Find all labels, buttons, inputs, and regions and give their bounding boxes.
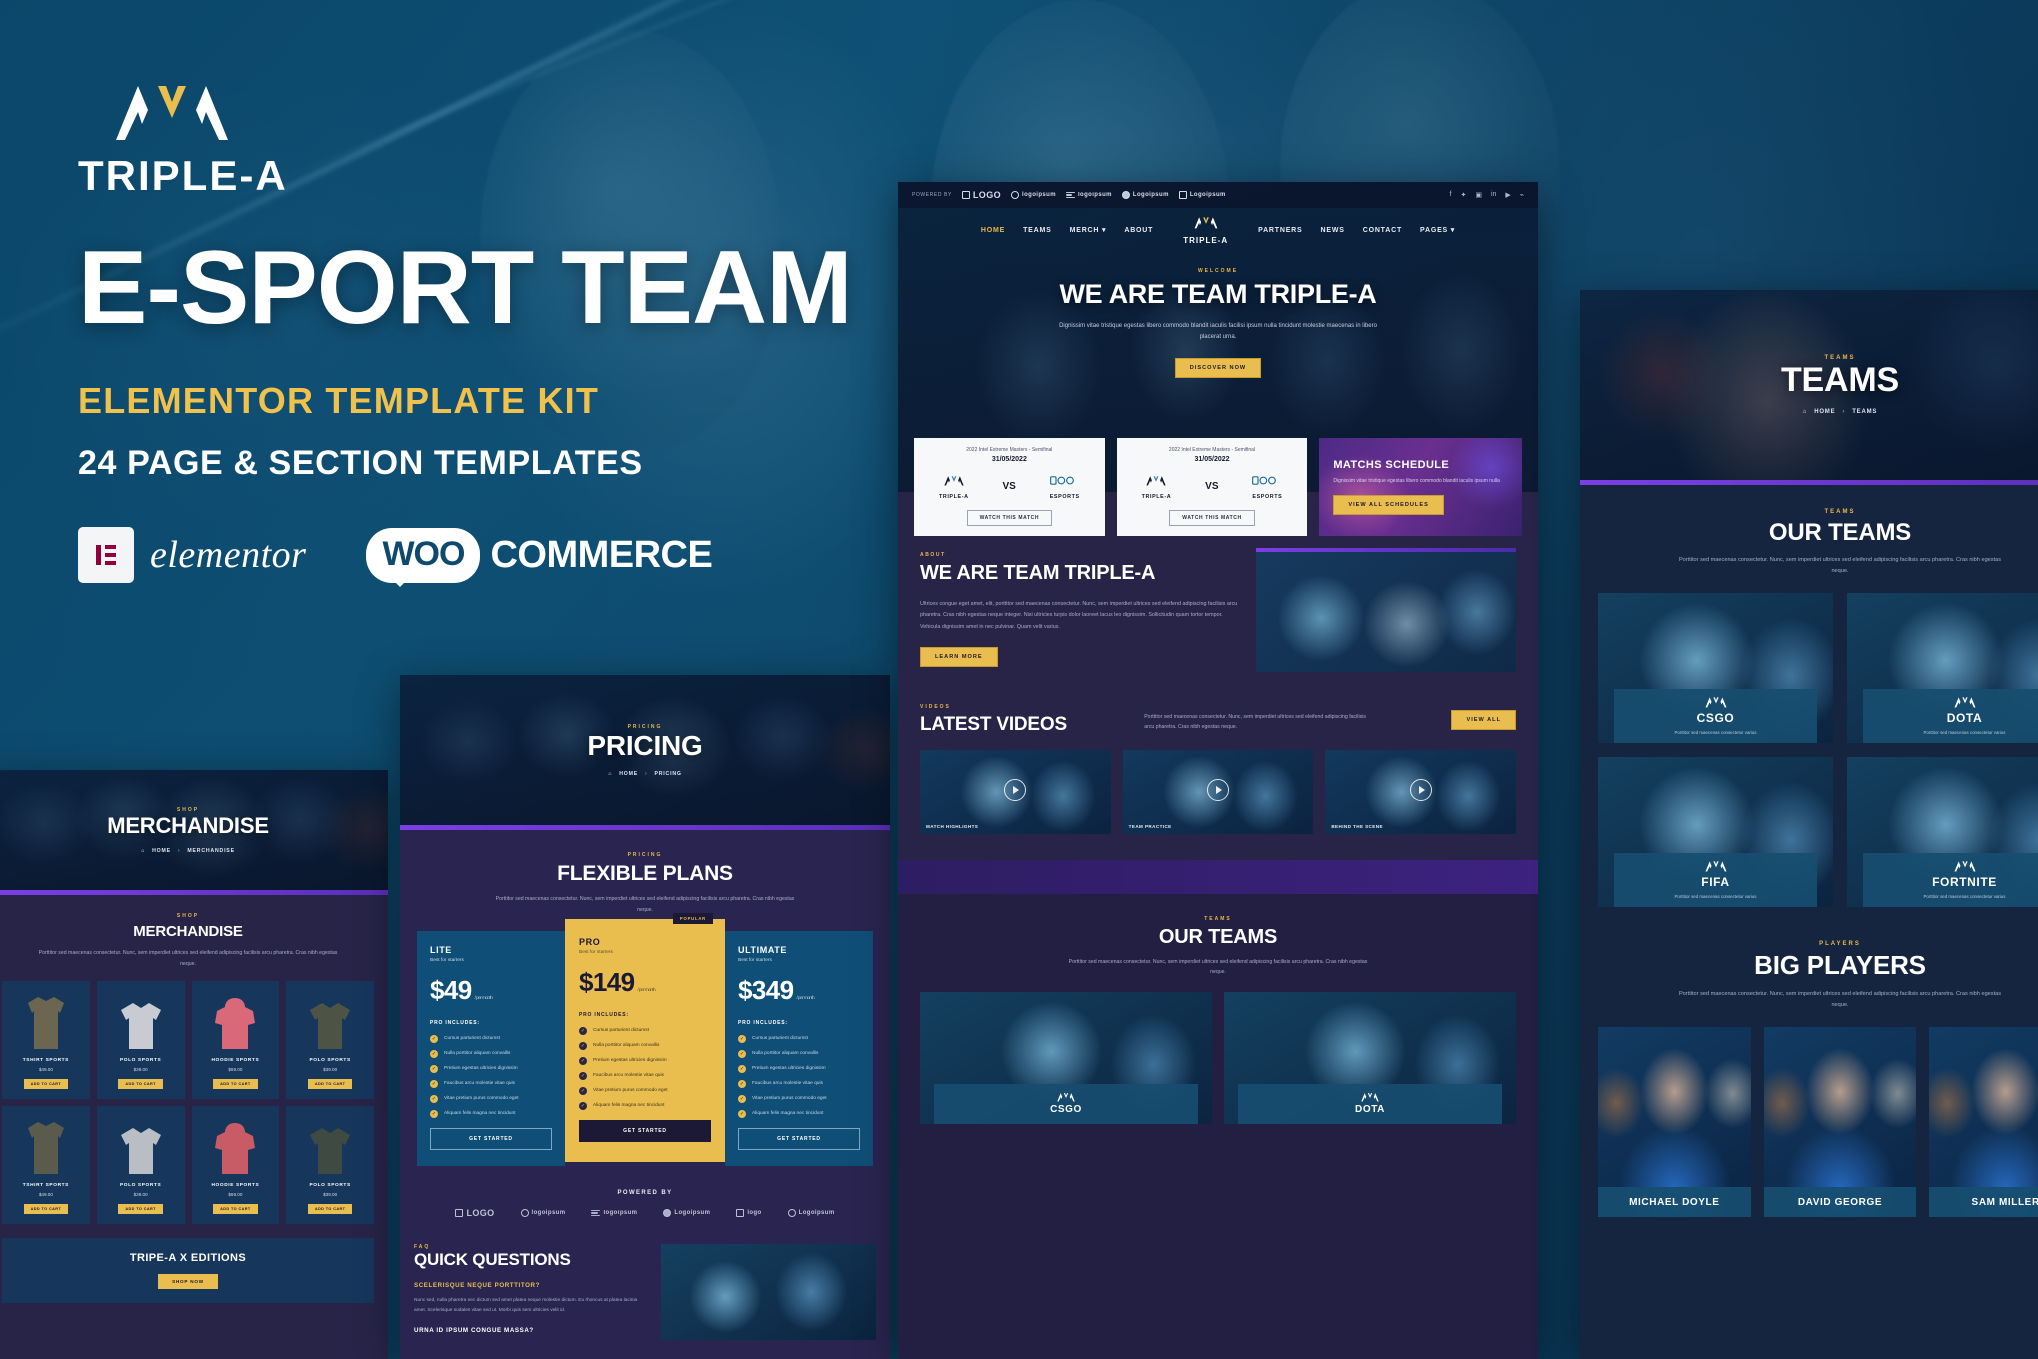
teams-page-hero: TEAMS TEAMS ⌂ HOME › TEAMS [1580, 290, 2038, 480]
plan-price: $349/ per month [738, 975, 860, 1006]
hero-subtitle: ELEMENTOR TEMPLATE KIT [78, 380, 898, 422]
pricing-card-ultimate[interactable]: ULTIMATE Best for starters $349/ per mon… [725, 931, 873, 1166]
hero-subtitle-secondary: 24 PAGE & SECTION TEMPLATES [78, 444, 898, 483]
nav-brand[interactable]: TRIPLE-A [1183, 216, 1228, 245]
triple-a-logo-icon [1360, 1092, 1380, 1102]
plan-name: PRO [579, 937, 711, 947]
play-icon[interactable] [1004, 779, 1026, 801]
players-desc: Porttitor sed maecenas consectetur. Nunc… [1670, 989, 2010, 1011]
check-icon: ✓ [738, 1095, 746, 1103]
product-price: $49.00 [8, 1192, 84, 1197]
merch-page-hero: SHOP MERCHANDISE ⌂ HOME › MERCHANDISE [0, 770, 388, 890]
product-card[interactable]: TSHIRT SPORTS $49.00 ADD TO CART [2, 1106, 90, 1224]
plan-tagline: Best for starters [430, 958, 552, 963]
check-icon: ✓ [579, 1072, 587, 1080]
check-icon: ✓ [430, 1035, 438, 1043]
team-desc: Porttitor sed maecenas consectetur variu… [1924, 729, 2006, 736]
woo-bubble-label: WOO [366, 528, 480, 583]
match-date: 31/05/2022 [1125, 456, 1300, 463]
feature-list: ✓Cursus parturient dictumst ✓Nulla portt… [430, 1035, 552, 1118]
social-links[interactable]: f ✦ ▣ in ▶ ⌁ [1449, 191, 1524, 199]
twitch-icon[interactable]: ⌁ [1520, 191, 1524, 199]
plan-period: / per month [637, 988, 655, 993]
edition-title: TRIPE-A X EDITIONS [16, 1252, 360, 1264]
add-to-cart-button[interactable]: ADD TO CART [308, 1204, 353, 1214]
list-item: ✓Aliquam felis magna nec tincidunt [738, 1110, 860, 1118]
view-all-schedules-button[interactable]: VIEW ALL SCHEDULES [1333, 495, 1443, 515]
triple-a-logo-icon [1145, 475, 1167, 486]
match-card[interactable]: 2022 Intel Extreme Masters - Semifinal 3… [1117, 438, 1308, 536]
check-icon: ✓ [430, 1080, 438, 1088]
list-item: ✓Nulla porttitor aliquam convallis [430, 1050, 552, 1058]
product-card[interactable]: POLO SPORTS $39.00 ADD TO CART [97, 981, 185, 1099]
product-name: HOODIE SPORTS [198, 1183, 274, 1188]
video-card[interactable]: BEHIND THE SCENE [1325, 750, 1516, 834]
about-title: WE ARE TEAM TRIPLE-A [920, 562, 1240, 585]
nav-item-home[interactable]: HOME [981, 227, 1005, 234]
plan-price: $49/ per month [430, 975, 552, 1006]
home-page-mockup[interactable]: POWERED BY LOGO logoipsum logoipsum Logo… [898, 182, 1538, 1359]
get-started-button[interactable]: GET STARTED [430, 1128, 552, 1150]
list-item: ✓Pretium egestas ultricies dignissim [579, 1057, 711, 1065]
team-name: FIFA [1701, 875, 1729, 889]
breadcrumb-home[interactable]: HOME [619, 771, 638, 777]
triple-a-logo-icon [1953, 696, 1977, 708]
product-grid: TSHIRT SPORTS $49.00 ADD TO CART POLO SP… [2, 981, 374, 1224]
product-price: $49.00 [8, 1067, 84, 1072]
check-icon: ✓ [579, 1087, 587, 1095]
partner-logo: LOGO [455, 1208, 494, 1218]
team-name: DOTA [1355, 1104, 1385, 1115]
includes-label: PRO INCLUDES: [430, 1020, 552, 1026]
check-icon: ✓ [430, 1095, 438, 1103]
breadcrumb-current: MERCHANDISE [187, 848, 234, 854]
home-icon[interactable]: ⌂ [1803, 409, 1807, 415]
team-card[interactable]: CSGO Porttitor sed maecenas consectetur … [1598, 593, 1833, 743]
players-title: BIG PLAYERS [1598, 951, 2038, 981]
pricing-table: LITE Best for starters $49/ per month PR… [414, 931, 876, 1166]
home-icon[interactable]: ⌂ [608, 771, 612, 777]
add-to-cart-button[interactable]: ADD TO CART [24, 1204, 69, 1214]
vs-label: VS [1002, 481, 1015, 492]
videos-section: VIDEOS LATEST VIDEOS Porttitor sed maece… [898, 694, 1538, 860]
triple-a-logo-icon [1953, 860, 1977, 872]
product-image [8, 1114, 84, 1176]
plans-title: FLEXIBLE PLANS [414, 862, 876, 886]
product-image [8, 989, 84, 1051]
chevron-down-icon: ▾ [1451, 227, 1455, 234]
add-to-cart-button[interactable]: ADD TO CART [118, 1079, 163, 1089]
pricing-page-hero: PRICING PRICING ⌂ HOME › PRICING [400, 675, 890, 825]
nav-item-pages[interactable]: PAGES ▾ [1420, 226, 1455, 234]
match-cards-row: 2022 Intel Extreme Masters - Semifinal 3… [914, 438, 1522, 536]
team-b: ESPORTS [1252, 473, 1282, 500]
powered-by-label: POWERED BY [414, 1190, 876, 1196]
team-desc: Porttitor sed maecenas consectetur variu… [1675, 893, 1757, 900]
check-icon: ✓ [430, 1050, 438, 1058]
partner-logo: logo [736, 1209, 761, 1217]
video-card[interactable]: TEAM PRACTICE [1123, 750, 1314, 834]
nav-brand-label: TRIPLE-A [1183, 236, 1228, 245]
faq-question[interactable]: URNA ID IPSUM CONGUE MASSA? [414, 1327, 645, 1334]
list-item: ✓Faucibus arcu molestie vitae quis [738, 1080, 860, 1088]
schedule-promo-card[interactable]: MATCHS SCHEDULE Dignissim vitae tristiqu… [1319, 438, 1522, 536]
match-teams: TRIPLE-A VS ESPORTS [922, 473, 1097, 500]
team-name: CSGO [1050, 1104, 1082, 1115]
team-name: TRIPLE-A [1142, 494, 1172, 500]
add-to-cart-button[interactable]: ADD TO CART [213, 1079, 258, 1089]
hero-description: Dignissim vitae tristique egestas libero… [1053, 321, 1383, 344]
players-kicker: PLAYERS [1598, 941, 2038, 947]
our-teams-section: TEAMS OUR TEAMS Porttitor sed maecenas c… [1580, 485, 2038, 915]
list-item: ✓Aliquam felis magna nec tincidunt [579, 1102, 711, 1110]
list-item: ✓Vitae pretium purus commodo eget [579, 1087, 711, 1095]
list-item: ✓Faucibus arcu molestie vitae quis [430, 1080, 552, 1088]
team-name: CSGO [1697, 711, 1735, 725]
list-item: ✓Cursus parturient dictumst [738, 1035, 860, 1043]
teams-title: OUR TEAMS [920, 926, 1516, 949]
team-name: ESPORTS [1050, 494, 1080, 500]
partner-logo: logoipsum [521, 1209, 566, 1217]
breadcrumb-current: PRICING [655, 771, 682, 777]
view-all-videos-button[interactable]: VIEW ALL [1451, 710, 1516, 730]
pricing-card-lite[interactable]: LITE Best for starters $49/ per month PR… [417, 931, 565, 1166]
chevron-right-icon: › [1842, 409, 1845, 415]
check-icon: ✓ [579, 1102, 587, 1110]
video-caption: MATCH HIGHLIGHTS [926, 824, 978, 829]
plan-tagline: Best for starters [738, 958, 860, 963]
nav-right[interactable]: PARTNERS NEWS CONTACT PAGES ▾ [1258, 226, 1455, 234]
powered-by-label: POWERED BY [912, 192, 952, 198]
schedule-desc: Dignissim vitae tristique egestas libero… [1333, 477, 1508, 486]
check-icon: ✓ [579, 1027, 587, 1035]
about-image [1256, 552, 1516, 672]
triple-a-logo-icon [1704, 860, 1728, 872]
team-card[interactable]: CSGO [920, 992, 1212, 1124]
nav-item-merch[interactable]: MERCH ▾ [1070, 226, 1107, 234]
elementor-logo: elementor [78, 527, 306, 583]
product-image [292, 989, 368, 1051]
product-price: $69.00 [198, 1192, 274, 1197]
triple-a-logo-icon [1056, 1092, 1076, 1102]
partner-logo: Logoipsum [663, 1209, 710, 1217]
pricing-card-pro[interactable]: POPULAR PRO Best for starters $149/ per … [565, 919, 725, 1162]
hero-kicker: WELCOME [898, 268, 1538, 274]
partner-logo-row: LOGO logoipsum logoipsum Logoipsum logo … [414, 1208, 876, 1218]
includes-label: PRO INCLUDES: [579, 1012, 711, 1018]
triple-a-logo-icon [1193, 216, 1219, 229]
plans-head: PRICING FLEXIBLE PLANS Porttitor sed mae… [414, 852, 876, 915]
plan-tagline: Best for starters [579, 950, 711, 955]
team-card[interactable]: FIFA Porttitor sed maecenas consectetur … [1598, 757, 1833, 907]
faq-section: FAQ QUICK QUESTIONS SCELERISQUE NEQUE PO… [414, 1244, 876, 1340]
product-price: $39.00 [103, 1067, 179, 1072]
faq-image [661, 1244, 876, 1340]
partner-logo: logoipsum [591, 1210, 637, 1217]
faq-answer: Nunc sed, nulla pharetra nec dictum sed … [414, 1296, 645, 1315]
product-card[interactable]: POLO SPORTS $39.00 ADD TO CART [286, 1106, 374, 1224]
team-b: ESPORTS [1050, 473, 1080, 500]
breadcrumb[interactable]: ⌂ HOME › PRICING [608, 771, 681, 777]
partner-logo: Logoipsum [788, 1209, 835, 1217]
our-teams-title: OUR TEAMS [1598, 519, 2038, 547]
team-desc: Porttitor sed maecenas consectetur variu… [1675, 729, 1757, 736]
partner-logo: LOGO [962, 190, 1001, 200]
list-item: ✓Pretium egestas ultricies dignissim [738, 1065, 860, 1073]
product-card[interactable]: HOODIE SPORTS $69.00 ADD TO CART [192, 1106, 280, 1224]
match-card[interactable]: 2022 Intel Extreme Masters - Semifinal 3… [914, 438, 1105, 536]
popular-badge: POPULAR [673, 913, 713, 924]
product-name: POLO SPORTS [103, 1183, 179, 1188]
add-to-cart-button[interactable]: ADD TO CART [308, 1079, 353, 1089]
play-icon[interactable] [1410, 779, 1432, 801]
linkedin-icon[interactable]: in [1491, 191, 1496, 199]
shop-now-button[interactable]: SHOP NOW [158, 1274, 218, 1289]
nav-item-contact[interactable]: CONTACT [1363, 227, 1402, 234]
purple-band [898, 860, 1538, 894]
home-hero: POWERED BY LOGO logoipsum logoipsum Logo… [898, 182, 1538, 492]
player-name: SAM MILLER [1972, 1197, 2038, 1208]
list-item: ✓Cursus parturient dictumst [430, 1035, 552, 1043]
plan-name: LITE [430, 945, 552, 955]
plan-price: $149/ per month [579, 967, 711, 998]
discover-now-button[interactable]: DISCOVER NOW [1175, 358, 1261, 378]
youtube-icon[interactable]: ▶ [1505, 191, 1510, 199]
plan-name: ULTIMATE [738, 945, 860, 955]
add-to-cart-button[interactable]: ADD TO CART [118, 1204, 163, 1214]
nav-left[interactable]: HOME TEAMS MERCH ▾ ABOUT [981, 226, 1153, 234]
list-item: ✓Aliquam felis magna nec tincidunt [430, 1110, 552, 1118]
nav-item-partners[interactable]: PARTNERS [1258, 227, 1302, 234]
about-desc: Ultrices congue eget amet, elit, porttit… [920, 599, 1240, 633]
merch-section-desc: Porttitor sed maecenas consectetur. Nunc… [38, 948, 338, 969]
match-date: 31/05/2022 [922, 456, 1097, 463]
chevron-down-icon: ▾ [1102, 227, 1106, 234]
triple-a-logo-icon [1704, 696, 1728, 708]
schedule-title: MATCHS SCHEDULE [1333, 459, 1508, 471]
check-icon: ✓ [430, 1065, 438, 1073]
video-caption: BEHIND THE SCENE [1331, 824, 1383, 829]
breadcrumb-home[interactable]: HOME [152, 848, 171, 854]
partner-logo: Logoipsum [1122, 191, 1169, 199]
list-item: ✓Nulla porttitor aliquam convallis [738, 1050, 860, 1058]
product-card[interactable]: POLO SPORTS $39.00 ADD TO CART [286, 981, 374, 1099]
players-section: PLAYERS BIG PLAYERS Porttitor sed maecen… [1580, 915, 2038, 1217]
page-title: E-SPORT TEAM [78, 236, 898, 340]
platform-logos: elementor WOO COMMERCE [78, 527, 898, 583]
plans-kicker: PRICING [414, 852, 876, 858]
log-esports-logo-icon [1050, 475, 1080, 486]
facebook-icon[interactable]: f [1449, 191, 1451, 199]
main-navigation[interactable]: HOME TEAMS MERCH ▾ ABOUT TRIPLE-A PARTNE… [898, 208, 1538, 252]
merchandise-page-mockup[interactable]: SHOP MERCHANDISE ⌂ HOME › MERCHANDISE SH… [0, 770, 388, 1359]
feature-list: ✓Cursus parturient dictumst ✓Nulla portt… [738, 1035, 860, 1118]
partner-logo: Logoipsum [1179, 191, 1226, 199]
breadcrumb[interactable]: ⌂ HOME › TEAMS [1803, 409, 1877, 415]
plans-desc: Porttitor sed maecenas consectetur. Nunc… [495, 894, 795, 915]
check-icon: ✓ [738, 1110, 746, 1118]
breadcrumb-home[interactable]: HOME [1814, 409, 1835, 415]
player-card[interactable]: DAVID GEORGE [1764, 1027, 1917, 1217]
product-image [103, 989, 179, 1051]
powered-by-group: POWERED BY LOGO logoipsum logoipsum Logo… [912, 190, 1226, 200]
feature-list: ✓Cursus parturient dictumst ✓Nulla portt… [579, 1027, 711, 1110]
check-icon: ✓ [579, 1042, 587, 1050]
product-image [198, 989, 274, 1051]
list-item: ✓Vitae pretium purus commodo eget [738, 1095, 860, 1103]
video-card[interactable]: MATCH HIGHLIGHTS [920, 750, 1111, 834]
team-name: ESPORTS [1252, 494, 1282, 500]
faq-question[interactable]: SCELERISQUE NEQUE PORTTITOR? [414, 1282, 645, 1289]
product-name: HOODIE SPORTS [198, 1058, 274, 1063]
merch-section-title: MERCHANDISE [2, 923, 374, 940]
chevron-right-icon: › [645, 771, 648, 777]
triple-a-logo-icon [108, 80, 236, 144]
video-caption: TEAM PRACTICE [1129, 824, 1172, 829]
brand-wordmark: TRIPLE-A [78, 152, 898, 200]
edition-banner[interactable]: TRIPE-A X EDITIONS SHOP NOW [2, 1238, 374, 1303]
product-price: $39.00 [292, 1192, 368, 1197]
log-esports-logo-icon [1252, 475, 1282, 486]
team-name: FORTNITE [1932, 875, 1997, 889]
pricing-page-title: PRICING [587, 730, 702, 762]
list-item: ✓Faucibus arcu molestie vitae quis [579, 1072, 711, 1080]
breadcrumb[interactable]: ⌂ HOME › MERCHANDISE [141, 848, 235, 854]
team-desc: Porttitor sed maecenas consectetur variu… [1924, 893, 2006, 900]
get-started-button[interactable]: GET STARTED [579, 1120, 711, 1142]
team-card[interactable]: FORTNITE Porttitor sed maecenas consecte… [1847, 757, 2038, 907]
player-name: DAVID GEORGE [1798, 1197, 1882, 1208]
triple-a-logo-icon [943, 475, 965, 486]
add-to-cart-button[interactable]: ADD TO CART [24, 1079, 69, 1089]
list-item: ✓Cursus parturient dictumst [579, 1027, 711, 1035]
watch-match-button[interactable]: WATCH THIS MATCH [1169, 510, 1254, 526]
videos-title: LATEST VIDEOS [920, 714, 1067, 736]
team-card[interactable]: DOTA [1224, 992, 1516, 1124]
team-a: TRIPLE-A [939, 473, 969, 500]
product-price: $69.00 [198, 1067, 274, 1072]
utility-topbar: POWERED BY LOGO logoipsum logoipsum Logo… [898, 182, 1538, 208]
player-grid: MICHAEL DOYLE DAVID GEORGE SAM MILLER [1598, 1027, 2038, 1217]
product-image [198, 1114, 274, 1176]
check-icon: ✓ [738, 1050, 746, 1058]
hero-heading: WE ARE TEAM TRIPLE-A [898, 279, 1538, 310]
match-tournament: 2022 Intel Extreme Masters - Semifinal [1125, 447, 1300, 453]
hero-copy: TRIPLE-A E-SPORT TEAM ELEMENTOR TEMPLATE… [78, 80, 898, 583]
check-icon: ✓ [579, 1057, 587, 1065]
merch-section-head: SHOP MERCHANDISE Porttitor sed maecenas … [2, 913, 374, 969]
product-price: $39.00 [103, 1192, 179, 1197]
plan-period: / per month [796, 996, 814, 1001]
about-kicker: ABOUT [920, 552, 1240, 558]
team-a: TRIPLE-A [1142, 473, 1172, 500]
nav-item-about[interactable]: ABOUT [1124, 227, 1153, 234]
team-grid: CSGO Porttitor sed maecenas consectetur … [1598, 593, 2038, 907]
teams-desc: Porttitor sed maecenas consectetur. Nunc… [1068, 957, 1368, 978]
product-price: $39.00 [292, 1067, 368, 1072]
our-teams-kicker: TEAMS [1598, 509, 2038, 515]
player-card[interactable]: MICHAEL DOYLE [1598, 1027, 1751, 1217]
instagram-icon[interactable]: ▣ [1475, 191, 1482, 199]
match-tournament: 2022 Intel Extreme Masters - Semifinal [922, 447, 1097, 453]
vs-label: VS [1205, 481, 1218, 492]
product-name: POLO SPORTS [292, 1183, 368, 1188]
add-to-cart-button[interactable]: ADD TO CART [213, 1204, 258, 1214]
teams-section: TEAMS OUR TEAMS Porttitor sed maecenas c… [898, 894, 1538, 1150]
includes-label: PRO INCLUDES: [738, 1020, 860, 1026]
get-started-button[interactable]: GET STARTED [738, 1128, 860, 1150]
teams-page-mockup[interactable]: TEAMS TEAMS ⌂ HOME › TEAMS TEAMS OUR TEA… [1580, 290, 2038, 1359]
twitter-icon[interactable]: ✦ [1460, 191, 1466, 199]
videos-desc: Porttitor sed maecenas consectetur. Nunc… [1144, 712, 1374, 733]
play-icon[interactable] [1207, 779, 1229, 801]
plan-period: / per month [475, 996, 493, 1001]
product-card[interactable]: TSHIRT SPORTS $49.00 ADD TO CART [2, 981, 90, 1099]
elementor-label: elementor [150, 533, 306, 577]
check-icon: ✓ [738, 1065, 746, 1073]
player-card[interactable]: SAM MILLER [1929, 1027, 2038, 1217]
woocommerce-label: COMMERCE [490, 534, 712, 577]
woocommerce-logo: WOO COMMERCE [366, 528, 712, 583]
list-item: ✓Pretium egestas ultricies dignissim [430, 1065, 552, 1073]
product-image [103, 1114, 179, 1176]
list-item: ✓Nulla porttitor aliquam convallis [579, 1042, 711, 1050]
check-icon: ✓ [738, 1080, 746, 1088]
hero-content: WELCOME WE ARE TEAM TRIPLE-A Dignissim v… [898, 268, 1538, 378]
product-card[interactable]: HOODIE SPORTS $69.00 ADD TO CART [192, 981, 280, 1099]
faq-title: QUICK QUESTIONS [414, 1250, 645, 1270]
merch-section-kicker: SHOP [2, 913, 374, 919]
match-teams: TRIPLE-A VS ESPORTS [1125, 473, 1300, 500]
partner-logo: logoipsum [1011, 191, 1056, 199]
player-name: MICHAEL DOYLE [1629, 1197, 1719, 1208]
teams-page-title: TEAMS [1781, 361, 1899, 400]
nav-item-news[interactable]: NEWS [1321, 227, 1345, 234]
team-card[interactable]: DOTA Porttitor sed maecenas consectetur … [1847, 593, 2038, 743]
product-name: POLO SPORTS [103, 1058, 179, 1063]
check-icon: ✓ [738, 1035, 746, 1043]
product-card[interactable]: POLO SPORTS $39.00 ADD TO CART [97, 1106, 185, 1224]
product-name: POLO SPORTS [292, 1058, 368, 1063]
home-icon[interactable]: ⌂ [141, 848, 145, 854]
videos-kicker: VIDEOS [920, 704, 1067, 710]
teams-kicker: TEAMS [920, 916, 1516, 922]
elementor-icon [78, 527, 134, 583]
merch-page-title: MERCHANDISE [107, 813, 269, 839]
breadcrumb-current: TEAMS [1852, 409, 1877, 415]
check-icon: ✓ [430, 1110, 438, 1118]
team-name: DOTA [1947, 711, 1983, 725]
product-image [292, 1114, 368, 1176]
pricing-page-mockup[interactable]: PRICING PRICING ⌂ HOME › PRICING PRICING… [400, 675, 890, 1359]
team-name: TRIPLE-A [939, 494, 969, 500]
chevron-right-icon: › [178, 848, 181, 854]
watch-match-button[interactable]: WATCH THIS MATCH [967, 510, 1052, 526]
our-teams-desc: Porttitor sed maecenas consectetur. Nunc… [1670, 555, 2010, 577]
learn-more-button[interactable]: LEARN MORE [920, 647, 998, 667]
promo-artboard: TRIPLE-A E-SPORT TEAM ELEMENTOR TEMPLATE… [0, 0, 2038, 1359]
partner-logo: logoipsum [1066, 192, 1112, 199]
nav-item-teams[interactable]: TEAMS [1023, 227, 1052, 234]
product-name: TSHIRT SPORTS [8, 1183, 84, 1188]
product-name: TSHIRT SPORTS [8, 1058, 84, 1063]
list-item: ✓Vitae pretium purus commodo eget [430, 1095, 552, 1103]
